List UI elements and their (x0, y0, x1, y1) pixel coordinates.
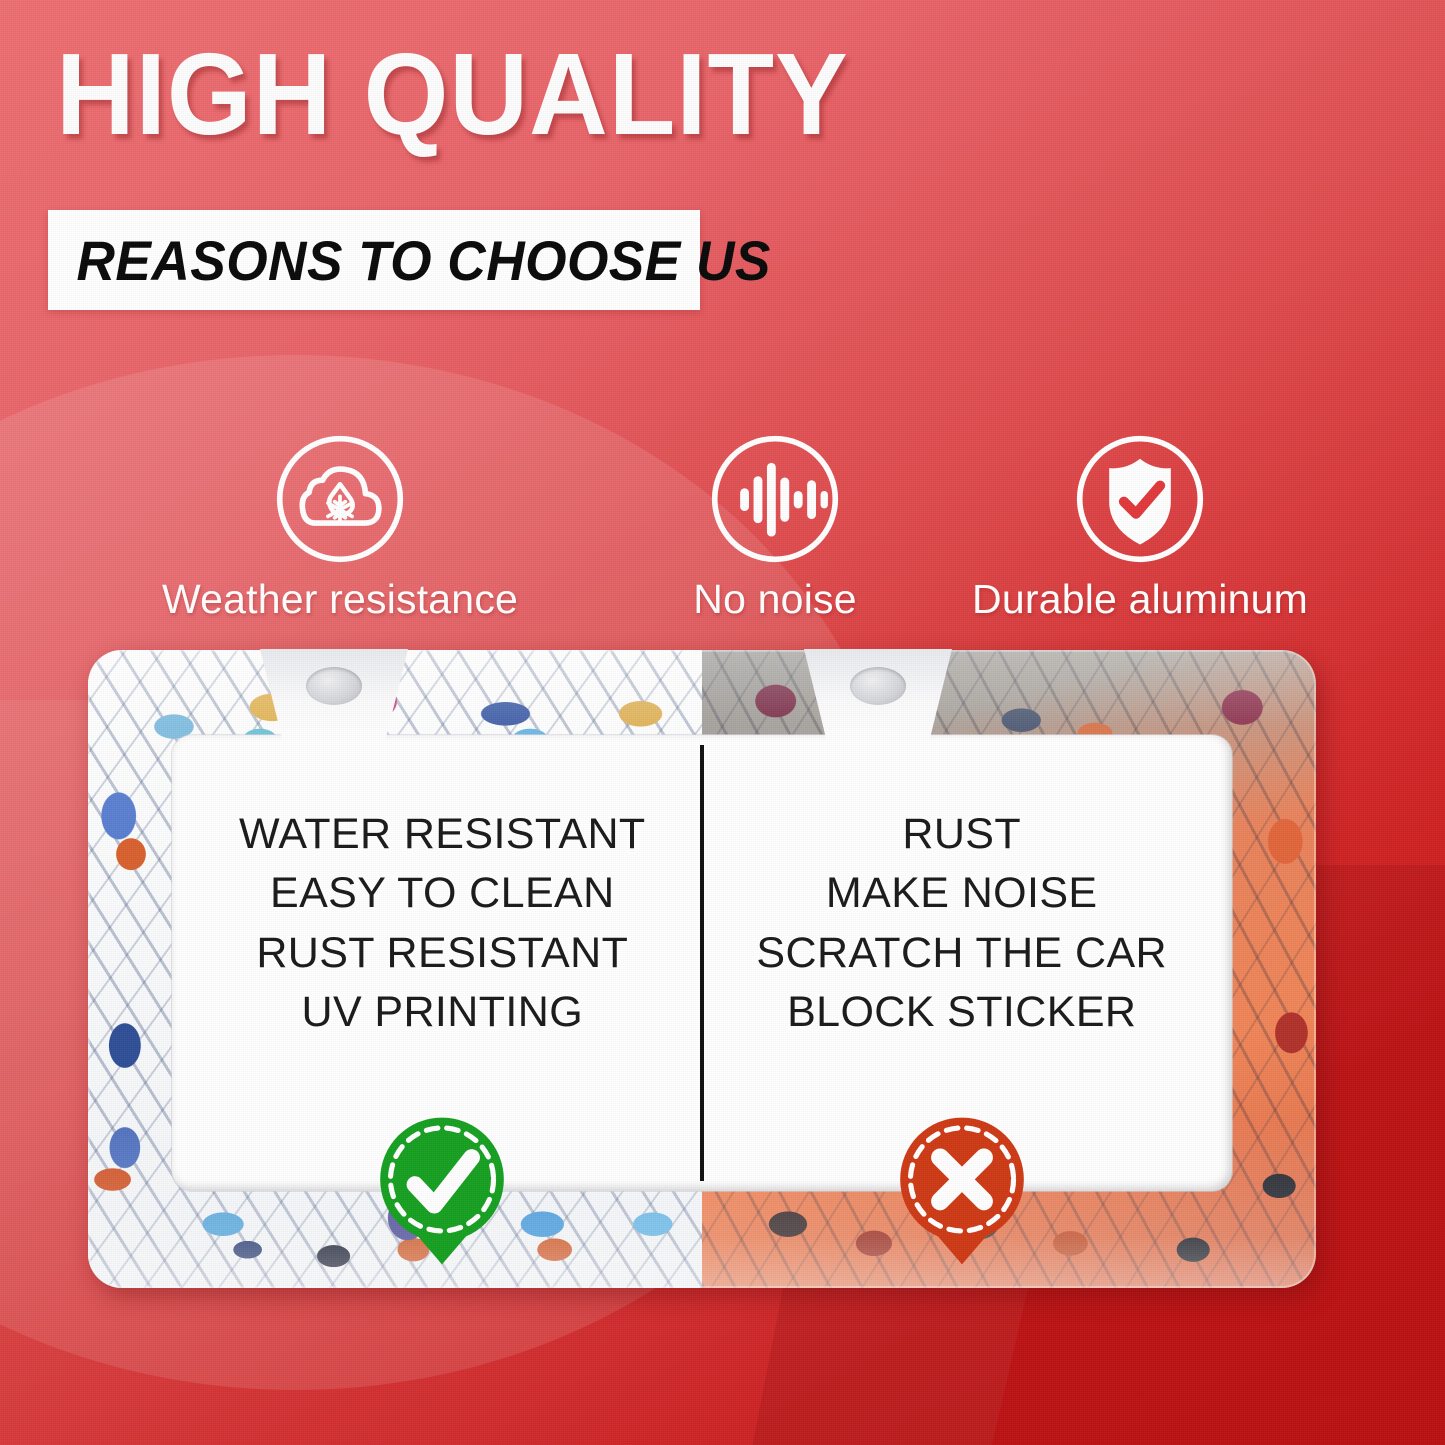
promo-poster: HIGH QUALITY REASONS TO CHOOSE US (0, 0, 1445, 1445)
check-badge (366, 1115, 518, 1267)
pros-line: EASY TO CLEAN (183, 864, 702, 923)
pros-line: UV PRINTING (183, 983, 702, 1042)
feature-list: Weather resistance No noise (0, 432, 1445, 642)
cloud-droplet-snowflake-icon (273, 432, 407, 566)
license-plate-frame-product: WATER RESISTANT EASY TO CLEAN RUST RESIS… (88, 650, 1316, 1288)
mount-hole-left (306, 667, 362, 705)
pros-column: WATER RESISTANT EASY TO CLEAN RUST RESIS… (183, 805, 702, 1042)
comparison-panel: WATER RESISTANT EASY TO CLEAN RUST RESIS… (172, 735, 1232, 1191)
subtitle-text: REASONS TO CHOOSE US (48, 228, 771, 293)
feature-label: No noise (693, 576, 856, 623)
cons-line: RUST (702, 805, 1221, 864)
mount-tab-right (804, 649, 952, 745)
sound-wave-icon (708, 432, 842, 566)
page-title: HIGH QUALITY (56, 34, 849, 155)
mount-hole-right (850, 667, 906, 705)
feature-label: Durable aluminum (972, 576, 1308, 623)
pros-line: WATER RESISTANT (183, 805, 702, 864)
cons-column: RUST MAKE NOISE SCRATCH THE CAR BLOCK ST… (702, 805, 1221, 1042)
feature-no-noise: No noise (620, 432, 930, 642)
subtitle-banner: REASONS TO CHOOSE US (48, 210, 700, 310)
cons-line: BLOCK STICKER (702, 983, 1221, 1042)
feature-weather-resistance: Weather resistance (60, 432, 620, 642)
mount-tab-left (260, 649, 408, 745)
shield-check-icon (1073, 432, 1207, 566)
cross-badge (886, 1115, 1038, 1267)
feature-durable-aluminum: Durable aluminum (930, 432, 1350, 642)
cons-line: MAKE NOISE (702, 864, 1221, 923)
pros-line: RUST RESISTANT (183, 924, 702, 983)
feature-label: Weather resistance (162, 576, 518, 623)
cons-line: SCRATCH THE CAR (702, 924, 1221, 983)
